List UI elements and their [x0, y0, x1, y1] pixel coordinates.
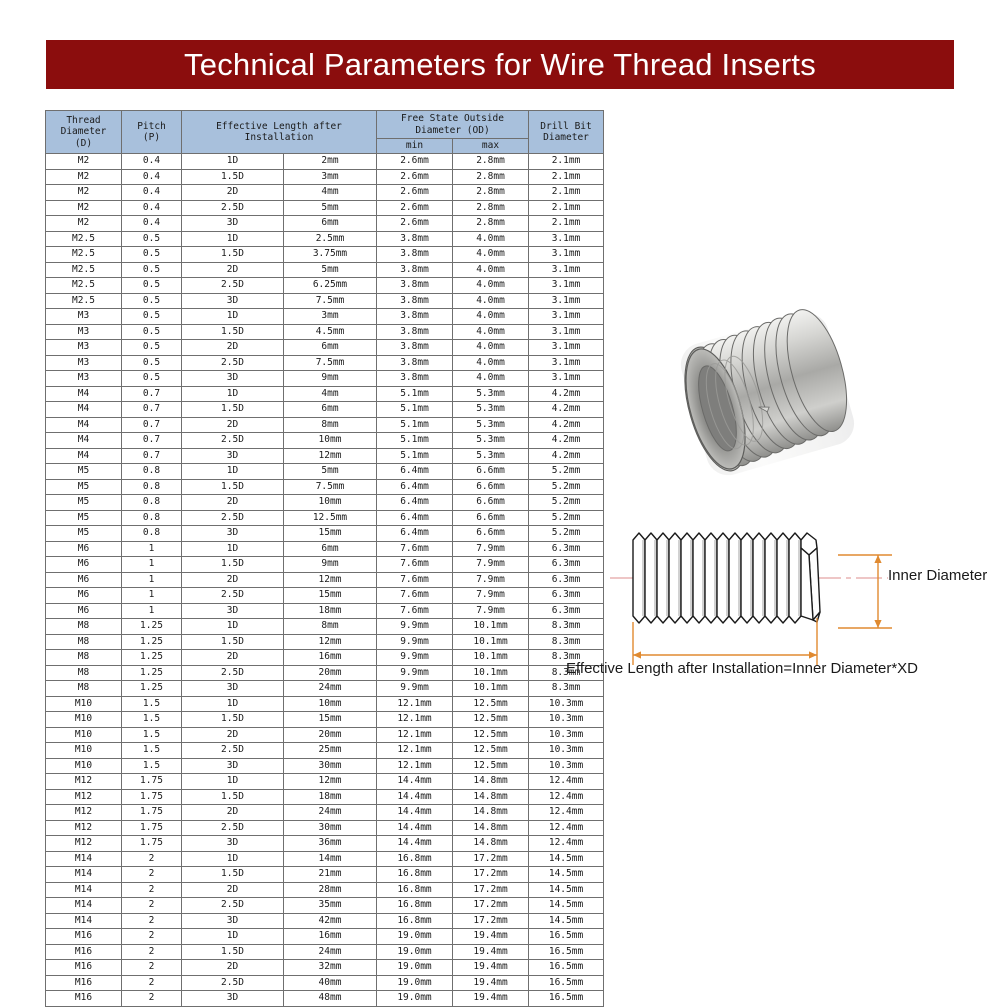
cell-effective-length-multiplier: 2.5D: [182, 588, 284, 604]
table-row: M50.81D5mm6.4mm6.6mm5.2mm: [46, 464, 604, 480]
table-row: M30.51D3mm3.8mm4.0mm3.1mm: [46, 309, 604, 325]
cell-od-min: 14.4mm: [377, 774, 453, 790]
cell-pitch: 1: [122, 572, 182, 588]
cell-thread-diameter: M5: [46, 510, 122, 526]
cell-od-max: 7.9mm: [453, 557, 529, 573]
cell-drill-bit-diameter: 14.5mm: [529, 913, 604, 929]
cell-effective-length-mm: 12mm: [284, 448, 377, 464]
cell-effective-length-multiplier: 2D: [182, 727, 284, 743]
cell-od-max: 5.3mm: [453, 433, 529, 449]
cell-od-max: 5.3mm: [453, 386, 529, 402]
cell-drill-bit-diameter: 3.1mm: [529, 309, 604, 325]
cell-pitch: 1: [122, 588, 182, 604]
cell-thread-diameter: M2.5: [46, 293, 122, 309]
cell-od-max: 5.3mm: [453, 402, 529, 418]
cell-effective-length-mm: 18mm: [284, 603, 377, 619]
cell-od-min: 3.8mm: [377, 293, 453, 309]
cell-effective-length-mm: 12mm: [284, 634, 377, 650]
cell-thread-diameter: M6: [46, 541, 122, 557]
cell-od-max: 6.6mm: [453, 495, 529, 511]
cell-effective-length-multiplier: 3D: [182, 216, 284, 232]
cell-thread-diameter: M3: [46, 371, 122, 387]
table-row: M2.50.51.5D3.75mm3.8mm4.0mm3.1mm: [46, 247, 604, 263]
table-row: M81.251D8mm9.9mm10.1mm8.3mm: [46, 619, 604, 635]
cell-effective-length-multiplier: 3D: [182, 371, 284, 387]
cell-effective-length-mm: 12mm: [284, 774, 377, 790]
cell-od-max: 19.4mm: [453, 944, 529, 960]
cell-drill-bit-diameter: 6.3mm: [529, 557, 604, 573]
cell-pitch: 1.25: [122, 665, 182, 681]
cell-effective-length-mm: 40mm: [284, 975, 377, 991]
cell-pitch: 1.25: [122, 650, 182, 666]
cell-drill-bit-diameter: 16.5mm: [529, 975, 604, 991]
table-row: M1622D32mm19.0mm19.4mm16.5mm: [46, 960, 604, 976]
cell-pitch: 2: [122, 867, 182, 883]
cell-thread-diameter: M16: [46, 960, 122, 976]
cell-effective-length-mm: 15mm: [284, 526, 377, 542]
coil-insert-illustration: [652, 292, 884, 500]
cell-od-max: 2.8mm: [453, 216, 529, 232]
cell-thread-diameter: M16: [46, 991, 122, 1007]
cell-drill-bit-diameter: 12.4mm: [529, 836, 604, 852]
cell-pitch: 0.4: [122, 185, 182, 201]
cell-od-max: 4.0mm: [453, 278, 529, 294]
cell-drill-bit-diameter: 4.2mm: [529, 402, 604, 418]
cell-od-max: 4.0mm: [453, 340, 529, 356]
table-row: M1421.5D21mm16.8mm17.2mm14.5mm: [46, 867, 604, 883]
cell-od-min: 5.1mm: [377, 433, 453, 449]
cell-pitch: 2: [122, 913, 182, 929]
cell-effective-length-multiplier: 1D: [182, 309, 284, 325]
cell-od-min: 7.6mm: [377, 541, 453, 557]
cell-effective-length-mm: 8mm: [284, 417, 377, 433]
cell-thread-diameter: M3: [46, 340, 122, 356]
col-header-od-max: max: [453, 139, 529, 154]
cell-effective-length-mm: 16mm: [284, 650, 377, 666]
cell-od-min: 19.0mm: [377, 929, 453, 945]
cell-thread-diameter: M2.5: [46, 247, 122, 263]
table-row: M611.5D9mm7.6mm7.9mm6.3mm: [46, 557, 604, 573]
cell-drill-bit-diameter: 2.1mm: [529, 200, 604, 216]
cell-effective-length-multiplier: 1.5D: [182, 944, 284, 960]
cell-effective-length-multiplier: 3D: [182, 526, 284, 542]
cell-effective-length-multiplier: 1.5D: [182, 479, 284, 495]
table-row: M81.252D16mm9.9mm10.1mm8.3mm: [46, 650, 604, 666]
cell-od-min: 5.1mm: [377, 448, 453, 464]
cell-thread-diameter: M14: [46, 867, 122, 883]
cell-effective-length-mm: 21mm: [284, 867, 377, 883]
cell-drill-bit-diameter: 5.2mm: [529, 510, 604, 526]
cell-drill-bit-diameter: 8.3mm: [529, 681, 604, 697]
cell-pitch: 0.5: [122, 309, 182, 325]
table-row: M40.73D12mm5.1mm5.3mm4.2mm: [46, 448, 604, 464]
cell-drill-bit-diameter: 3.1mm: [529, 371, 604, 387]
table-row: M1422.5D35mm16.8mm17.2mm14.5mm: [46, 898, 604, 914]
cell-drill-bit-diameter: 10.3mm: [529, 696, 604, 712]
cell-od-max: 14.8mm: [453, 820, 529, 836]
cell-pitch: 2: [122, 929, 182, 945]
table-row: M40.72.5D10mm5.1mm5.3mm4.2mm: [46, 433, 604, 449]
cell-effective-length-mm: 3.75mm: [284, 247, 377, 263]
cell-od-min: 3.8mm: [377, 262, 453, 278]
table-row: M1422D28mm16.8mm17.2mm14.5mm: [46, 882, 604, 898]
cell-effective-length-mm: 24mm: [284, 944, 377, 960]
cell-effective-length-mm: 42mm: [284, 913, 377, 929]
cell-effective-length-mm: 24mm: [284, 805, 377, 821]
table-row: M20.41.5D3mm2.6mm2.8mm2.1mm: [46, 169, 604, 185]
cell-od-min: 2.6mm: [377, 169, 453, 185]
cell-drill-bit-diameter: 2.1mm: [529, 185, 604, 201]
cell-drill-bit-diameter: 3.1mm: [529, 262, 604, 278]
cell-effective-length-multiplier: 1D: [182, 774, 284, 790]
table-row: M1622.5D40mm19.0mm19.4mm16.5mm: [46, 975, 604, 991]
cell-pitch: 0.5: [122, 247, 182, 263]
cell-od-min: 12.1mm: [377, 743, 453, 759]
table-row: M611D6mm7.6mm7.9mm6.3mm: [46, 541, 604, 557]
table-row: M1621D16mm19.0mm19.4mm16.5mm: [46, 929, 604, 945]
cell-effective-length-mm: 15mm: [284, 588, 377, 604]
cell-drill-bit-diameter: 16.5mm: [529, 944, 604, 960]
cell-effective-length-mm: 2.5mm: [284, 231, 377, 247]
cell-pitch: 0.5: [122, 371, 182, 387]
cell-effective-length-mm: 25mm: [284, 743, 377, 759]
cell-drill-bit-diameter: 14.5mm: [529, 882, 604, 898]
cell-od-max: 7.9mm: [453, 603, 529, 619]
cell-od-min: 3.8mm: [377, 309, 453, 325]
cell-effective-length-multiplier: 2.5D: [182, 355, 284, 371]
cell-pitch: 1: [122, 603, 182, 619]
cell-od-min: 6.4mm: [377, 495, 453, 511]
cell-drill-bit-diameter: 5.2mm: [529, 479, 604, 495]
table-row: M81.252.5D20mm9.9mm10.1mm8.3mm: [46, 665, 604, 681]
cell-pitch: 2: [122, 975, 182, 991]
cell-effective-length-multiplier: 2.5D: [182, 665, 284, 681]
cell-thread-diameter: M16: [46, 929, 122, 945]
cell-od-max: 17.2mm: [453, 851, 529, 867]
table-row: M30.52.5D7.5mm3.8mm4.0mm3.1mm: [46, 355, 604, 371]
table-row: M101.51D10mm12.1mm12.5mm10.3mm: [46, 696, 604, 712]
cell-pitch: 0.7: [122, 402, 182, 418]
cell-od-min: 9.9mm: [377, 634, 453, 650]
table-row: M121.752D24mm14.4mm14.8mm12.4mm: [46, 805, 604, 821]
cell-effective-length-mm: 6mm: [284, 402, 377, 418]
cell-drill-bit-diameter: 14.5mm: [529, 851, 604, 867]
cell-pitch: 0.8: [122, 495, 182, 511]
cell-od-min: 14.4mm: [377, 836, 453, 852]
cell-effective-length-multiplier: 1.5D: [182, 789, 284, 805]
cell-thread-diameter: M2: [46, 154, 122, 170]
cell-effective-length-mm: 4.5mm: [284, 324, 377, 340]
cell-od-max: 17.2mm: [453, 867, 529, 883]
cell-effective-length-mm: 30mm: [284, 758, 377, 774]
cell-pitch: 0.8: [122, 526, 182, 542]
effective-length-formula: Effective Length after Installation=Inne…: [566, 660, 918, 677]
cell-od-min: 6.4mm: [377, 479, 453, 495]
cell-effective-length-mm: 48mm: [284, 991, 377, 1007]
cell-effective-length-mm: 28mm: [284, 882, 377, 898]
cell-pitch: 2: [122, 898, 182, 914]
table-row: M1423D42mm16.8mm17.2mm14.5mm: [46, 913, 604, 929]
cell-effective-length-multiplier: 1.5D: [182, 402, 284, 418]
cell-od-min: 3.8mm: [377, 278, 453, 294]
table-row: M50.82.5D12.5mm6.4mm6.6mm5.2mm: [46, 510, 604, 526]
cell-drill-bit-diameter: 6.3mm: [529, 541, 604, 557]
cell-od-max: 4.0mm: [453, 262, 529, 278]
cell-pitch: 1.5: [122, 696, 182, 712]
cell-pitch: 1.25: [122, 634, 182, 650]
table-row: M50.83D15mm6.4mm6.6mm5.2mm: [46, 526, 604, 542]
cell-pitch: 1.75: [122, 805, 182, 821]
cell-od-max: 7.9mm: [453, 541, 529, 557]
cell-thread-diameter: M2.5: [46, 278, 122, 294]
cell-thread-diameter: M2: [46, 200, 122, 216]
cell-effective-length-multiplier: 1D: [182, 929, 284, 945]
cell-thread-diameter: M4: [46, 402, 122, 418]
cell-pitch: 1.75: [122, 774, 182, 790]
cell-effective-length-mm: 16mm: [284, 929, 377, 945]
table-row: M81.251.5D12mm9.9mm10.1mm8.3mm: [46, 634, 604, 650]
table-row: M1421D14mm16.8mm17.2mm14.5mm: [46, 851, 604, 867]
cell-thread-diameter: M10: [46, 696, 122, 712]
cell-thread-diameter: M8: [46, 665, 122, 681]
cell-thread-diameter: M6: [46, 572, 122, 588]
cell-thread-diameter: M14: [46, 898, 122, 914]
cell-thread-diameter: M12: [46, 774, 122, 790]
cell-od-min: 3.8mm: [377, 340, 453, 356]
cell-od-max: 4.0mm: [453, 231, 529, 247]
cell-pitch: 2: [122, 960, 182, 976]
cell-drill-bit-diameter: 16.5mm: [529, 929, 604, 945]
cell-pitch: 2: [122, 991, 182, 1007]
cell-pitch: 0.4: [122, 169, 182, 185]
cell-od-max: 12.5mm: [453, 712, 529, 728]
cell-od-max: 19.4mm: [453, 975, 529, 991]
cell-effective-length-multiplier: 1.5D: [182, 712, 284, 728]
thread-profile: [633, 533, 801, 623]
cell-od-min: 2.6mm: [377, 154, 453, 170]
cell-pitch: 0.5: [122, 231, 182, 247]
cell-od-max: 4.0mm: [453, 293, 529, 309]
cell-od-min: 2.6mm: [377, 200, 453, 216]
cell-pitch: 0.7: [122, 448, 182, 464]
cell-od-min: 19.0mm: [377, 975, 453, 991]
cell-effective-length-multiplier: 2D: [182, 185, 284, 201]
cell-od-max: 2.8mm: [453, 154, 529, 170]
cell-thread-diameter: M2: [46, 169, 122, 185]
cell-od-min: 3.8mm: [377, 324, 453, 340]
cell-pitch: 0.7: [122, 433, 182, 449]
col-header-pitch: Pitch (P): [122, 111, 182, 154]
cell-od-max: 10.1mm: [453, 665, 529, 681]
cell-effective-length-multiplier: 1D: [182, 154, 284, 170]
table-row: M101.52D20mm12.1mm12.5mm10.3mm: [46, 727, 604, 743]
cell-thread-diameter: M8: [46, 634, 122, 650]
cell-od-max: 14.8mm: [453, 805, 529, 821]
cell-pitch: 2: [122, 851, 182, 867]
cell-pitch: 0.7: [122, 386, 182, 402]
cell-od-min: 12.1mm: [377, 696, 453, 712]
cell-thread-diameter: M3: [46, 324, 122, 340]
cell-drill-bit-diameter: 16.5mm: [529, 991, 604, 1007]
table-row: M50.81.5D7.5mm6.4mm6.6mm5.2mm: [46, 479, 604, 495]
cell-od-max: 6.6mm: [453, 464, 529, 480]
cell-effective-length-multiplier: 1D: [182, 696, 284, 712]
cell-od-min: 14.4mm: [377, 820, 453, 836]
cell-effective-length-mm: 15mm: [284, 712, 377, 728]
cell-od-min: 5.1mm: [377, 417, 453, 433]
cell-od-min: 3.8mm: [377, 371, 453, 387]
cell-thread-diameter: M8: [46, 681, 122, 697]
cell-pitch: 0.8: [122, 510, 182, 526]
cell-effective-length-multiplier: 2D: [182, 572, 284, 588]
cell-effective-length-mm: 32mm: [284, 960, 377, 976]
table-row: M20.41D2mm2.6mm2.8mm2.1mm: [46, 154, 604, 170]
spec-table-container: Thread Diameter (D) Pitch (P) Effective …: [45, 110, 567, 1007]
table-row: M1623D48mm19.0mm19.4mm16.5mm: [46, 991, 604, 1007]
cell-drill-bit-diameter: 4.2mm: [529, 433, 604, 449]
cell-od-min: 9.9mm: [377, 650, 453, 666]
cell-pitch: 0.4: [122, 154, 182, 170]
cell-od-min: 3.8mm: [377, 355, 453, 371]
table-row: M101.53D30mm12.1mm12.5mm10.3mm: [46, 758, 604, 774]
table-row: M2.50.53D7.5mm3.8mm4.0mm3.1mm: [46, 293, 604, 309]
cell-drill-bit-diameter: 14.5mm: [529, 898, 604, 914]
cell-pitch: 0.8: [122, 479, 182, 495]
cell-drill-bit-diameter: 4.2mm: [529, 386, 604, 402]
cell-effective-length-mm: 6mm: [284, 340, 377, 356]
cell-effective-length-mm: 4mm: [284, 386, 377, 402]
cell-od-min: 6.4mm: [377, 526, 453, 542]
cell-effective-length-mm: 35mm: [284, 898, 377, 914]
cell-drill-bit-diameter: 3.1mm: [529, 293, 604, 309]
cell-pitch: 0.5: [122, 278, 182, 294]
col-header-od-min: min: [377, 139, 453, 154]
cell-effective-length-mm: 20mm: [284, 665, 377, 681]
cell-effective-length-multiplier: 1.5D: [182, 169, 284, 185]
cell-od-min: 3.8mm: [377, 231, 453, 247]
cell-drill-bit-diameter: 4.2mm: [529, 417, 604, 433]
cell-od-min: 2.6mm: [377, 216, 453, 232]
cell-drill-bit-diameter: 3.1mm: [529, 247, 604, 263]
cell-effective-length-mm: 30mm: [284, 820, 377, 836]
cell-od-min: 2.6mm: [377, 185, 453, 201]
cell-effective-length-mm: 3mm: [284, 309, 377, 325]
table-row: M50.82D10mm6.4mm6.6mm5.2mm: [46, 495, 604, 511]
table-row: M40.71D4mm5.1mm5.3mm4.2mm: [46, 386, 604, 402]
table-row: M20.42D4mm2.6mm2.8mm2.1mm: [46, 185, 604, 201]
cell-drill-bit-diameter: 14.5mm: [529, 867, 604, 883]
insert-product-photo: [652, 292, 884, 500]
table-row: M30.51.5D4.5mm3.8mm4.0mm3.1mm: [46, 324, 604, 340]
cell-effective-length-mm: 9mm: [284, 371, 377, 387]
cell-effective-length-mm: 7.5mm: [284, 355, 377, 371]
cell-pitch: 1.5: [122, 758, 182, 774]
cell-od-min: 12.1mm: [377, 712, 453, 728]
cell-effective-length-multiplier: 2D: [182, 650, 284, 666]
cell-effective-length-mm: 6.25mm: [284, 278, 377, 294]
cell-od-min: 6.4mm: [377, 510, 453, 526]
cell-pitch: 1.75: [122, 820, 182, 836]
cell-od-min: 19.0mm: [377, 944, 453, 960]
cell-thread-diameter: M3: [46, 355, 122, 371]
table-row: M121.751D12mm14.4mm14.8mm12.4mm: [46, 774, 604, 790]
cell-od-max: 10.1mm: [453, 650, 529, 666]
cell-effective-length-mm: 7.5mm: [284, 479, 377, 495]
cell-effective-length-multiplier: 2D: [182, 882, 284, 898]
cell-od-min: 16.8mm: [377, 867, 453, 883]
cell-drill-bit-diameter: 12.4mm: [529, 774, 604, 790]
cell-effective-length-multiplier: 2D: [182, 495, 284, 511]
cell-effective-length-mm: 24mm: [284, 681, 377, 697]
cell-od-max: 10.1mm: [453, 681, 529, 697]
cell-effective-length-multiplier: 1D: [182, 851, 284, 867]
cell-od-min: 14.4mm: [377, 789, 453, 805]
cell-effective-length-multiplier: 2D: [182, 960, 284, 976]
cell-drill-bit-diameter: 12.4mm: [529, 789, 604, 805]
cell-pitch: 0.5: [122, 262, 182, 278]
cell-drill-bit-diameter: 10.3mm: [529, 743, 604, 759]
cell-effective-length-mm: 9mm: [284, 557, 377, 573]
cell-effective-length-multiplier: 1.5D: [182, 247, 284, 263]
cell-thread-diameter: M5: [46, 495, 122, 511]
cell-od-min: 5.1mm: [377, 386, 453, 402]
cell-drill-bit-diameter: 6.3mm: [529, 572, 604, 588]
cell-effective-length-multiplier: 2.5D: [182, 278, 284, 294]
cell-drill-bit-diameter: 5.2mm: [529, 464, 604, 480]
table-row: M121.751.5D18mm14.4mm14.8mm12.4mm: [46, 789, 604, 805]
cell-pitch: 1.5: [122, 727, 182, 743]
technical-parameters-table: Thread Diameter (D) Pitch (P) Effective …: [45, 110, 604, 1007]
cell-effective-length-multiplier: 3D: [182, 836, 284, 852]
cell-od-min: 9.9mm: [377, 619, 453, 635]
cell-od-min: 14.4mm: [377, 805, 453, 821]
cell-effective-length-multiplier: 3D: [182, 681, 284, 697]
cell-effective-length-mm: 10mm: [284, 495, 377, 511]
cell-od-max: 4.0mm: [453, 371, 529, 387]
cell-effective-length-multiplier: 1D: [182, 541, 284, 557]
cell-od-max: 17.2mm: [453, 913, 529, 929]
cell-thread-diameter: M12: [46, 836, 122, 852]
cell-thread-diameter: M16: [46, 975, 122, 991]
cell-drill-bit-diameter: 5.2mm: [529, 495, 604, 511]
cell-od-max: 6.6mm: [453, 526, 529, 542]
cell-od-min: 9.9mm: [377, 681, 453, 697]
cell-od-min: 12.1mm: [377, 727, 453, 743]
cell-od-max: 5.3mm: [453, 417, 529, 433]
cell-od-max: 12.5mm: [453, 743, 529, 759]
cell-pitch: 1: [122, 557, 182, 573]
cell-od-max: 4.0mm: [453, 324, 529, 340]
table-row: M40.71.5D6mm5.1mm5.3mm4.2mm: [46, 402, 604, 418]
cell-od-min: 7.6mm: [377, 572, 453, 588]
cell-od-max: 2.8mm: [453, 185, 529, 201]
cell-effective-length-multiplier: 1.5D: [182, 867, 284, 883]
cell-thread-diameter: M6: [46, 603, 122, 619]
cell-effective-length-multiplier: 2.5D: [182, 510, 284, 526]
cell-pitch: 1.75: [122, 789, 182, 805]
cell-drill-bit-diameter: 2.1mm: [529, 169, 604, 185]
table-row: M81.253D24mm9.9mm10.1mm8.3mm: [46, 681, 604, 697]
cell-thread-diameter: M16: [46, 944, 122, 960]
cell-thread-diameter: M6: [46, 588, 122, 604]
table-row: M40.72D8mm5.1mm5.3mm4.2mm: [46, 417, 604, 433]
cell-effective-length-mm: 2mm: [284, 154, 377, 170]
cell-drill-bit-diameter: 3.1mm: [529, 340, 604, 356]
cell-effective-length-multiplier: 1D: [182, 464, 284, 480]
cell-drill-bit-diameter: 10.3mm: [529, 712, 604, 728]
cell-pitch: 0.8: [122, 464, 182, 480]
cell-thread-diameter: M12: [46, 820, 122, 836]
